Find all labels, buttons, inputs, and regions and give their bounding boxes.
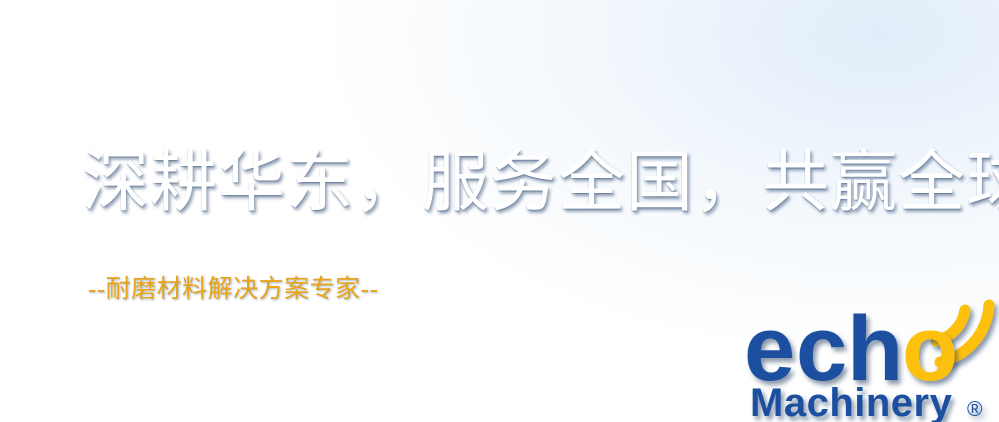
logo-tagline: Machinery — [750, 381, 953, 422]
page-title: 深耕华东，服务全国，共赢全球 — [82, 148, 999, 218]
banner-subtitle: --耐磨材料解决方案专家-- — [88, 269, 378, 305]
brand-logo: e c h o Machinery ® — [744, 296, 999, 422]
promo-banner: 深耕华东，服务全国，共赢全球 --耐磨材料解决方案专家-- e — [0, 0, 999, 422]
registered-trademark-icon: ® — [967, 398, 983, 421]
